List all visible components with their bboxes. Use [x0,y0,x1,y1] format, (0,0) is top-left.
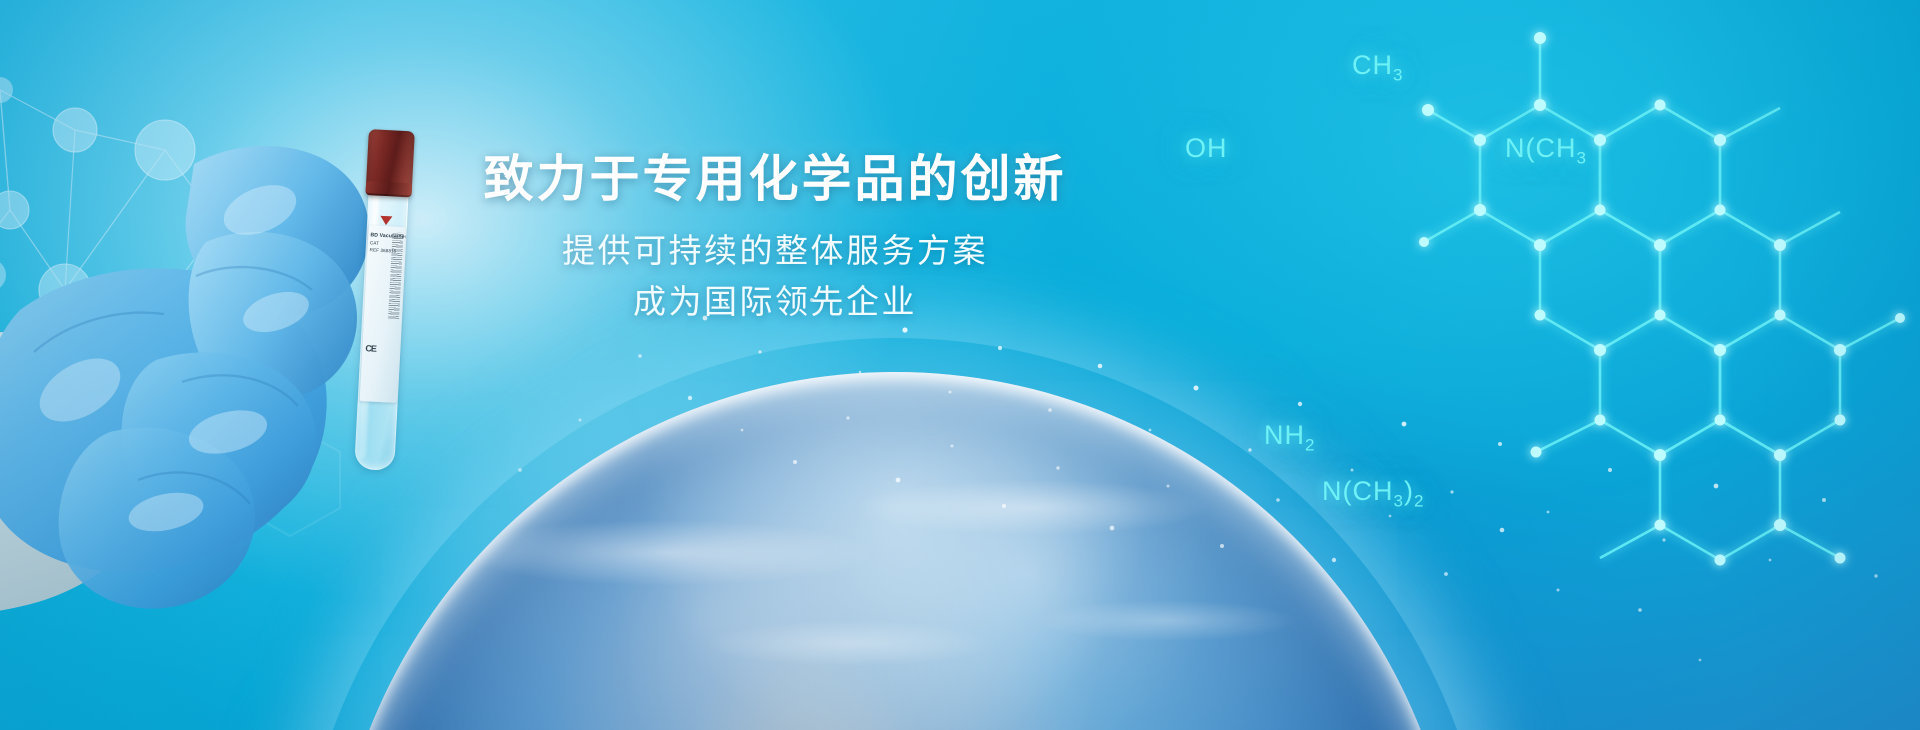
ce-mark-icon: CE [365,343,376,354]
hero-banner: BD Vacutainer® CAT REF 368815 CE [0,0,1920,730]
tube-fill-arrow-icon [380,216,392,226]
tube-label-barcode [388,232,403,318]
chem-label-ch3: CH3 [1352,50,1403,85]
chem-label-oh: OH [1185,133,1228,164]
chem-label-nch3-right: N(CH3 [1505,133,1587,168]
chem-label-nh2: NH2 [1264,420,1315,455]
chem-label-nch3-bottom: N(CH3)2 [1322,476,1424,511]
tube-label-cat: CAT [370,240,379,245]
tube-cap [365,129,414,197]
